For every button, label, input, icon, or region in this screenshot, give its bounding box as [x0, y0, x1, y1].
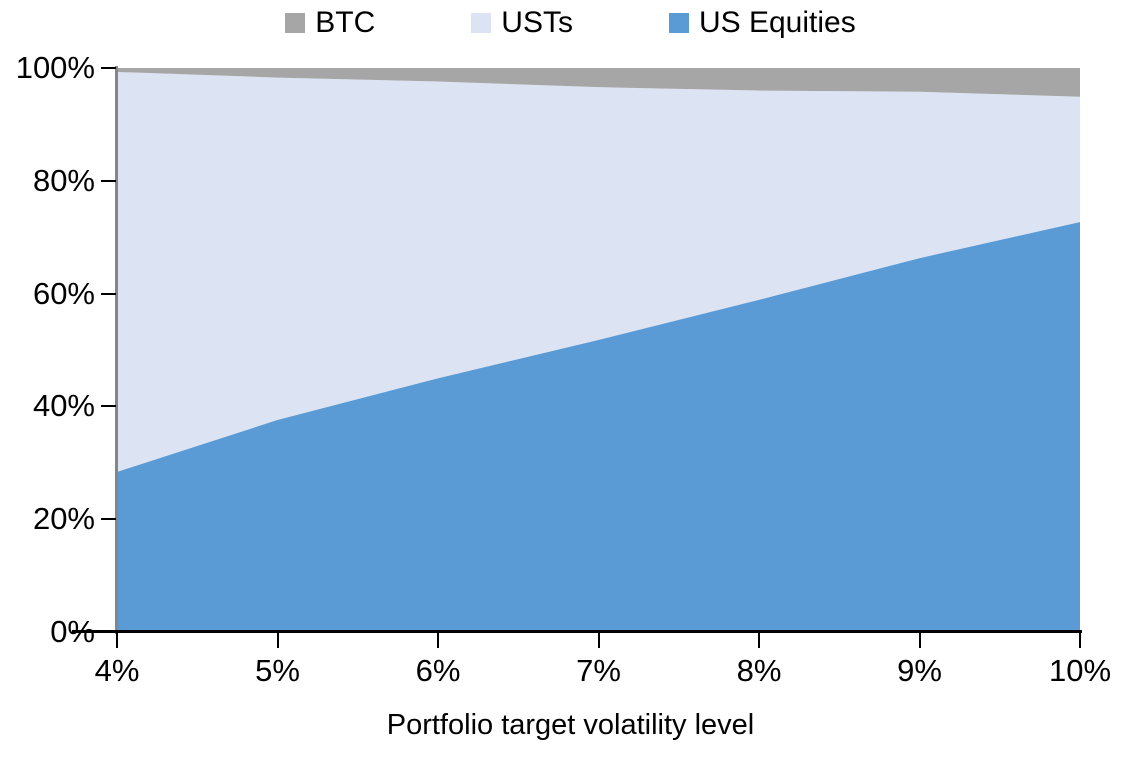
y-tick-20 — [101, 518, 116, 520]
y-tick-label-20: 20% — [33, 503, 95, 534]
x-axis-title: Portfolio target volatility level — [0, 711, 1141, 740]
y-tick-40 — [101, 405, 116, 407]
x-tick-label-4: 4% — [95, 655, 140, 686]
x-tick-label-5: 5% — [255, 655, 300, 686]
y-tick-0 — [101, 631, 116, 633]
stacked-area-chart: BTC USTs US Equities 0%20%40%60%80%100% … — [0, 0, 1141, 763]
x-tick-label-7: 7% — [576, 655, 621, 686]
x-tick-label-9: 9% — [897, 655, 942, 686]
legend-label-btc: BTC — [315, 8, 375, 38]
y-tick-80 — [101, 180, 116, 182]
legend-swatch-us-equities — [669, 13, 689, 33]
y-tick-100 — [101, 67, 116, 69]
x-tick-10 — [1079, 633, 1081, 648]
x-tick-label-8: 8% — [737, 655, 782, 686]
y-tick-label-0: 0% — [50, 616, 95, 647]
y-axis-line — [115, 66, 118, 634]
y-tick-label-80: 80% — [33, 165, 95, 196]
x-tick-8 — [758, 633, 760, 648]
x-tick-label-10: 10% — [1049, 655, 1111, 686]
x-tick-7 — [598, 633, 600, 648]
x-tick-label-6: 6% — [416, 655, 461, 686]
legend-label-us-equities: US Equities — [699, 8, 856, 38]
y-tick-label-100: 100% — [16, 52, 95, 83]
x-axis-line — [72, 630, 1082, 633]
x-tick-5 — [277, 633, 279, 648]
x-tick-6 — [437, 633, 439, 648]
legend-label-usts: USTs — [501, 8, 573, 38]
legend-swatch-usts — [471, 13, 491, 33]
area-series-group — [117, 68, 1080, 632]
legend-item-us-equities[interactable]: US Equities — [669, 8, 856, 38]
legend-item-btc[interactable]: BTC — [285, 8, 375, 38]
y-tick-label-60: 60% — [33, 278, 95, 309]
x-tick-9 — [919, 633, 921, 648]
x-tick-4 — [116, 633, 118, 648]
legend-swatch-btc — [285, 13, 305, 33]
y-tick-60 — [101, 293, 116, 295]
legend-item-usts[interactable]: USTs — [471, 8, 573, 38]
y-tick-label-40: 40% — [33, 390, 95, 421]
chart-legend: BTC USTs US Equities — [0, 0, 1141, 46]
plot-area — [117, 68, 1080, 632]
